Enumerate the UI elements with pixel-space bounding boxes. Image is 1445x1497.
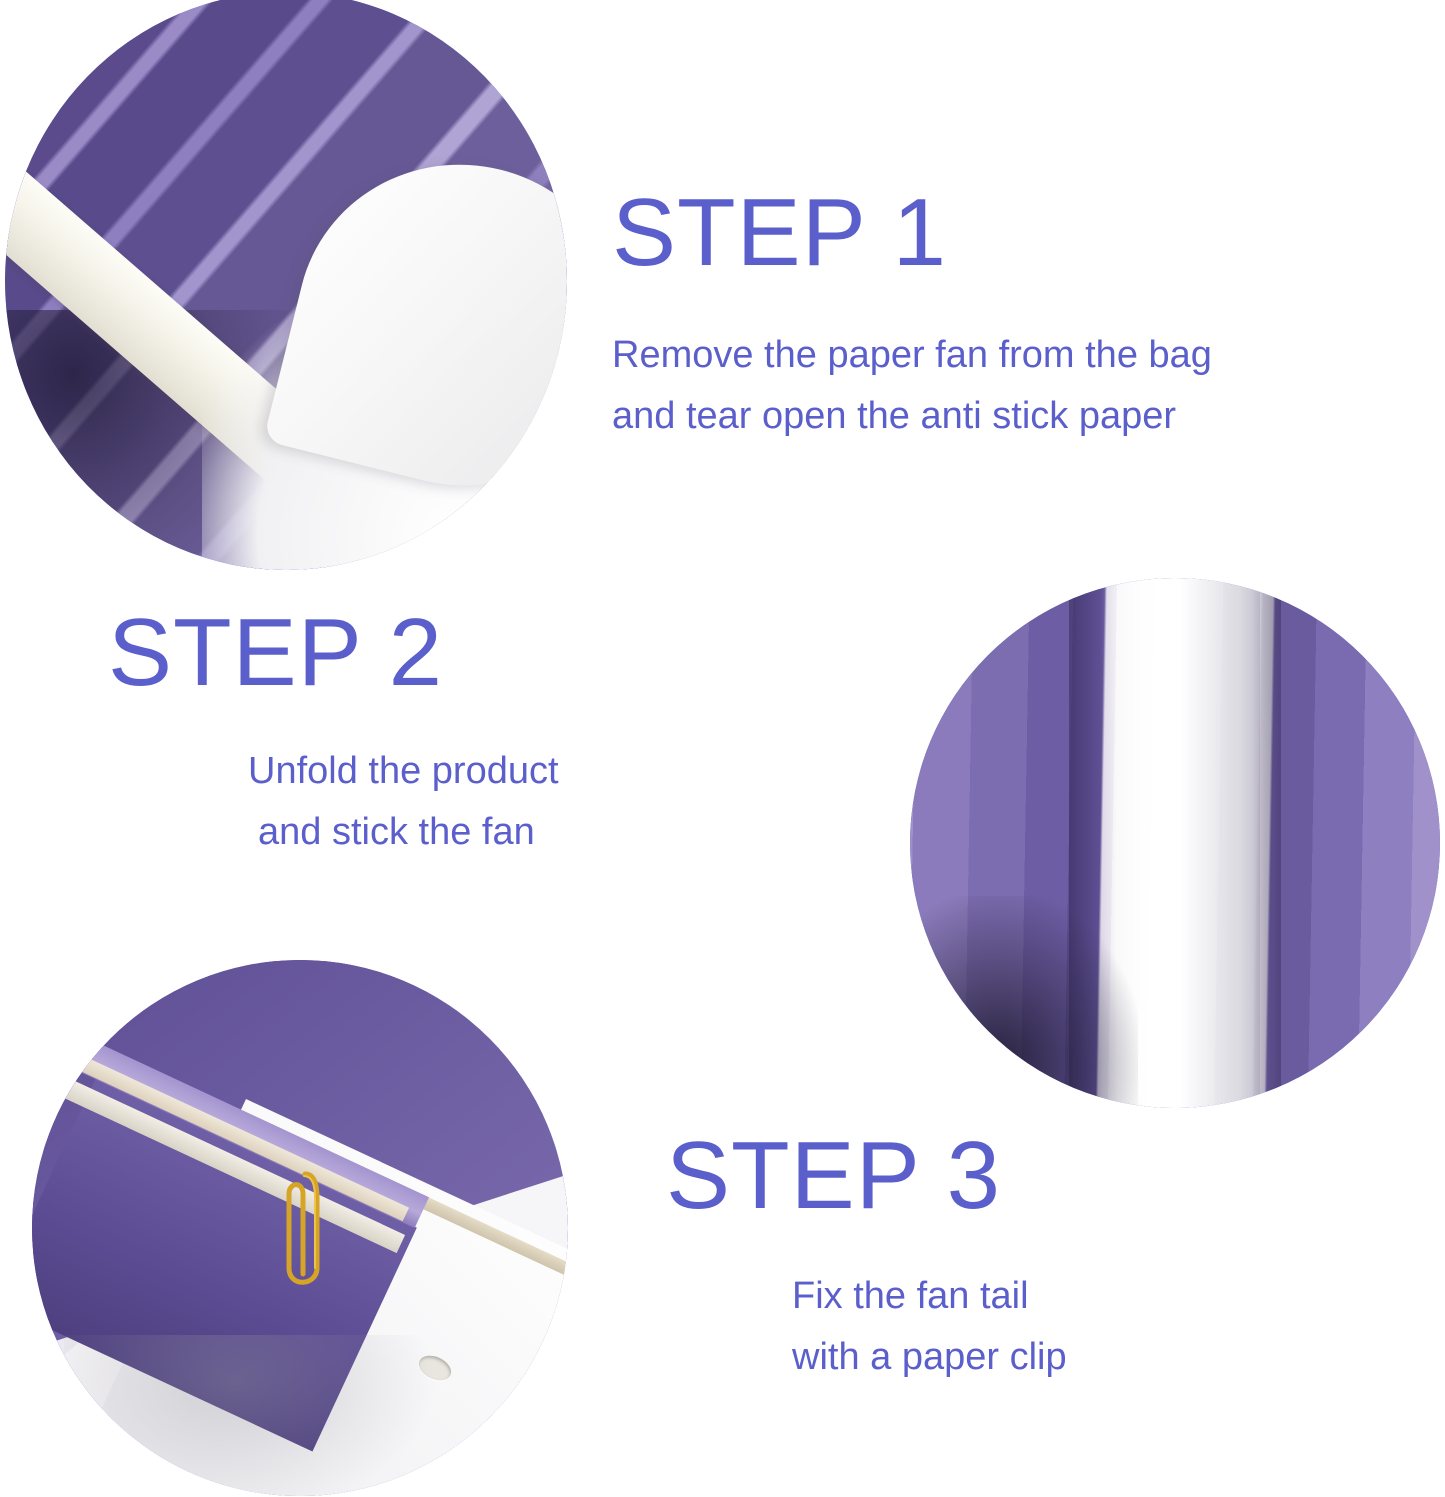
photo-inner-step3 [32,960,568,1496]
step-3-description: Fix the fan tail with a paper clip [666,1266,1067,1388]
step-1-text-block: STEP 1 Remove the paper fan from the bag… [612,185,1212,447]
photo-inner-step2 [910,578,1440,1108]
step-2-line-1: Unfold the product [248,741,559,802]
fan-tail-gold-paper-clip-photo [32,960,568,1496]
pleated-purple-fan-with-anti-stick-paper-photo [5,0,567,570]
photo-inner-step1 [5,0,567,570]
step-1-line-2: and tear open the anti stick paper [612,386,1212,447]
step-2-text-block: STEP 2 Unfold the product and stick the … [108,605,559,863]
gold-paper-clip-icon [279,1164,321,1304]
step-3-line-1: Fix the fan tail [792,1266,1067,1327]
unfolded-fan-adhesive-strip-photo [910,578,1440,1108]
step-2-line-2: and stick the fan [248,802,559,863]
step-3-text-block: STEP 3 Fix the fan tail with a paper cli… [666,1128,1067,1388]
step-2-description: Unfold the product and stick the fan [108,741,559,863]
step-1-description: Remove the paper fan from the bag and te… [612,325,1212,447]
pleat-cavity-shadow [910,896,1138,1108]
step-2-title: STEP 2 [108,605,559,701]
step-1-title: STEP 1 [612,185,1212,281]
step-1-line-1: Remove the paper fan from the bag [612,325,1212,386]
step-3-title: STEP 3 [666,1128,1067,1224]
instruction-infographic: STEP 1 Remove the paper fan from the bag… [0,0,1445,1497]
card-drop-shadow [64,1335,439,1496]
step-3-line-2: with a paper clip [792,1327,1067,1388]
right-fold-shadow [1239,578,1281,1108]
